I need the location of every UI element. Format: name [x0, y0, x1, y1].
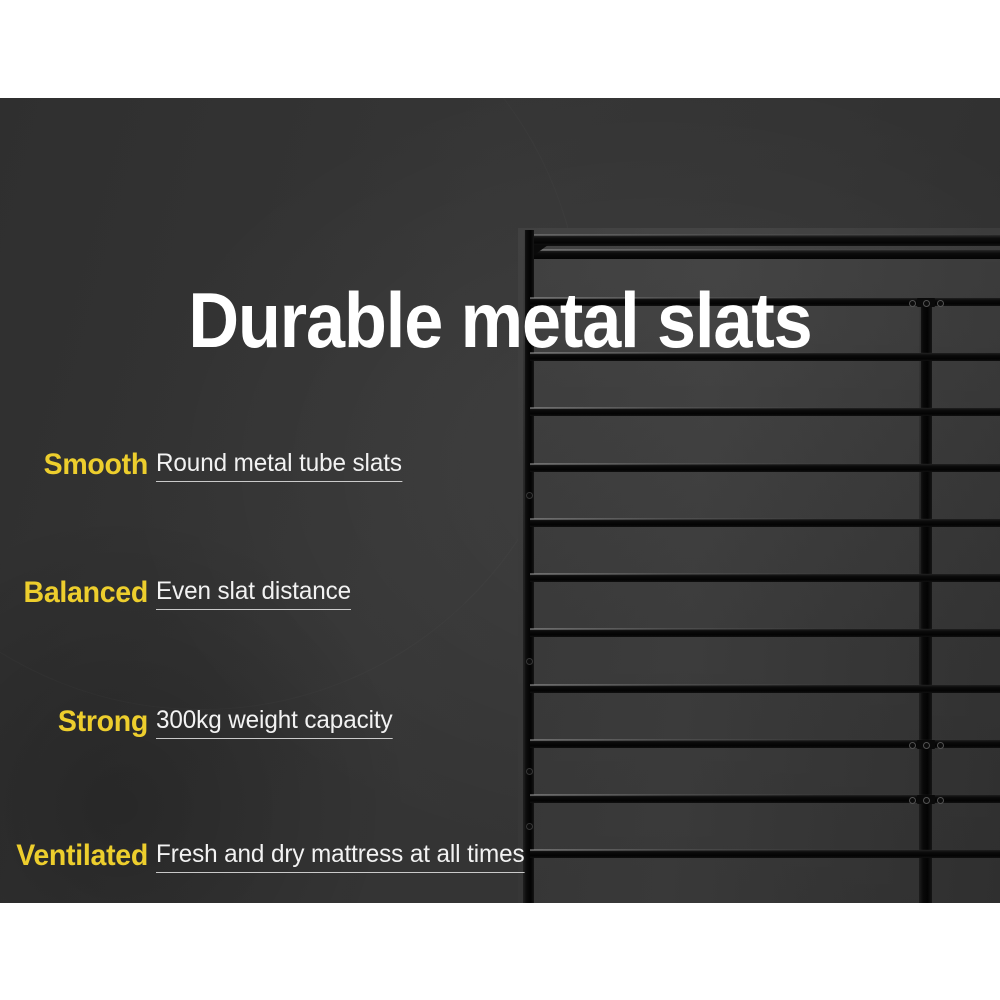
bolt-icon	[909, 742, 916, 749]
bolt-icon	[526, 492, 533, 499]
bed-frame-photo	[510, 98, 1000, 903]
bolt-icon	[526, 768, 533, 775]
feature-description: 300kg weight capacity	[156, 705, 393, 739]
product-feature-banner: Durable metal slats Smooth Round metal t…	[0, 0, 1000, 1000]
bed-slat	[530, 464, 1000, 472]
bed-top-inner-rail-highlight	[530, 249, 1000, 251]
bed-center-support-beam-highlight	[919, 303, 921, 903]
bolt-icon	[909, 797, 916, 804]
feature-label: Ventilated	[7, 839, 148, 873]
bed-slat	[530, 850, 1000, 858]
bed-top-outer-rail	[523, 235, 1000, 246]
feature-label: Strong	[7, 705, 148, 739]
feature-label: Balanced	[7, 576, 148, 610]
bolt-icon	[923, 742, 930, 749]
feature-label: Smooth	[7, 448, 148, 482]
feature-item-balanced: Balanced Even slat distance	[0, 566, 560, 610]
bed-slat	[530, 685, 1000, 693]
feature-item-strong: Strong 300kg weight capacity	[0, 695, 560, 739]
bed-slat	[530, 408, 1000, 416]
bolt-icon	[937, 797, 944, 804]
bolt-icon	[526, 658, 533, 665]
feature-item-smooth: Smooth Round metal tube slats	[0, 438, 560, 482]
dark-feature-panel: Durable metal slats Smooth Round metal t…	[0, 98, 1000, 903]
feature-item-ventilated: Ventilated Fresh and dry mattress at all…	[0, 829, 560, 873]
panel-arc-decoration	[0, 98, 582, 710]
feature-description: Fresh and dry mattress at all times	[156, 839, 525, 873]
bed-slat	[530, 629, 1000, 637]
feature-description: Even slat distance	[156, 576, 351, 610]
bolt-icon	[937, 742, 944, 749]
page-title: Durable metal slats	[50, 281, 950, 359]
bed-bracket-junction	[906, 795, 946, 804]
bed-top-outer-rail-highlight	[523, 234, 1000, 236]
feature-description: Round metal tube slats	[156, 448, 402, 482]
bed-slat	[530, 519, 1000, 527]
bolt-icon	[923, 797, 930, 804]
bed-top-inner-rail	[530, 250, 1000, 259]
bed-bracket-junction	[906, 740, 946, 749]
bed-slat	[530, 574, 1000, 582]
